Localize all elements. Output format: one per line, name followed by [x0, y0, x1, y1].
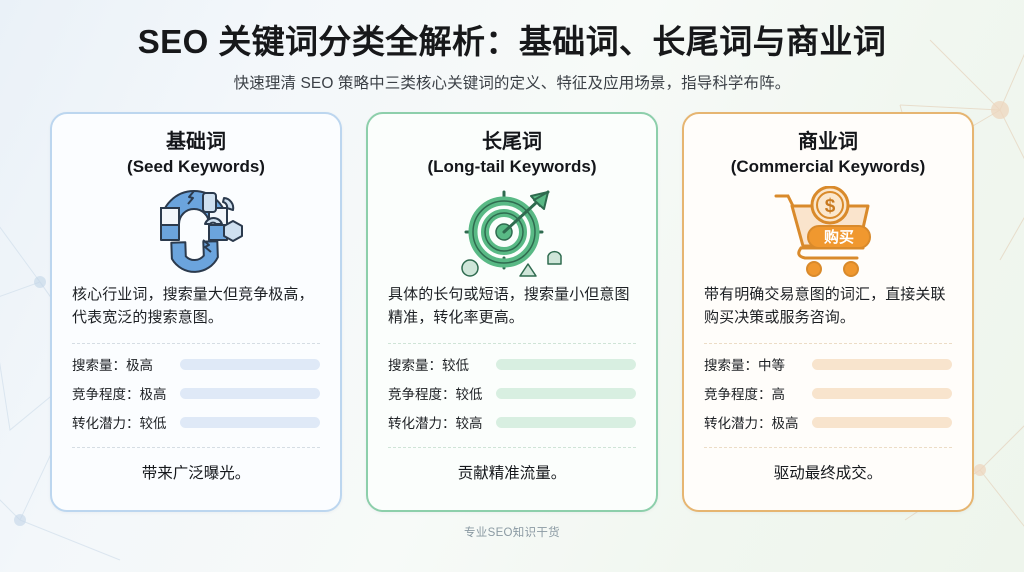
metric-label: 搜索量：较低	[388, 354, 496, 374]
card-footer: 驱动最终成交。	[704, 448, 952, 483]
metric-row: 转化潜力：较高	[388, 412, 636, 432]
card-title-cn: 长尾词	[388, 130, 636, 155]
shopping-cart-coin-icon: $ 购买	[768, 186, 888, 278]
metric-bar-track	[180, 359, 320, 370]
metric-label: 竞争程度：较低	[388, 383, 496, 403]
metric-row: 竞争程度：极高	[72, 383, 320, 403]
card-title-en: (Commercial Keywords)	[704, 156, 952, 178]
metric-label: 转化潜力：较低	[72, 412, 180, 432]
metric-label: 竞争程度：极高	[72, 383, 180, 403]
metric-row: 竞争程度：较低	[388, 383, 636, 403]
target-arrow-icon	[456, 186, 568, 278]
metric-label: 搜索量：中等	[704, 354, 812, 374]
metric-label: 转化潜力：较高	[388, 412, 496, 432]
page-title: SEO 关键词分类全解析：基础词、长尾词与商业词	[0, 22, 1024, 62]
card-divider	[388, 343, 636, 344]
card-description: 具体的长句或短语，搜索量小但意图精准，转化率更高。	[388, 284, 636, 330]
card-description: 带有明确交易意图的词汇，直接关联购买决策或服务咨询。	[704, 284, 952, 330]
metric-label: 竞争程度：高	[704, 383, 812, 403]
metric-bar-track	[496, 417, 636, 428]
card-title-cn: 商业词	[704, 130, 952, 155]
metric-bar-track	[496, 359, 636, 370]
keyword-category-cards: 基础词 (Seed Keywords)	[0, 112, 1024, 512]
metric-row: 搜索量：中等	[704, 354, 952, 374]
metric-bar-track	[180, 417, 320, 428]
buy-button-label: 购买	[824, 228, 854, 246]
metric-row: 搜索量：极高	[72, 354, 320, 374]
card-title-en: (Seed Keywords)	[72, 156, 320, 178]
card-header: 基础词 (Seed Keywords)	[72, 130, 320, 178]
metric-bar-track	[180, 388, 320, 399]
card-description: 核心行业词，搜索量大但竞争极高，代表宽泛的搜索意图。	[72, 284, 320, 330]
card-title-cn: 基础词	[72, 130, 320, 155]
card-metrics: 搜索量：极高 竞争程度：极高 转化潜力：较低	[72, 354, 320, 432]
metric-bar-track	[812, 388, 952, 399]
metric-row: 搜索量：较低	[388, 354, 636, 374]
card-header: 商业词 (Commercial Keywords)	[704, 130, 952, 178]
card-metrics: 搜索量：中等 竞争程度：高 转化潜力：极高	[704, 354, 952, 432]
metric-bar-track	[812, 417, 952, 428]
card-divider	[72, 343, 320, 344]
infographic-page: SEO 关键词分类全解析：基础词、长尾词与商业词 快速理清 SEO 策略中三类核…	[0, 0, 1024, 572]
card-seed-keywords[interactable]: 基础词 (Seed Keywords)	[50, 112, 342, 512]
metric-row: 竞争程度：高	[704, 383, 952, 403]
metric-bar-track	[812, 359, 952, 370]
card-footer: 带来广泛曝光。	[72, 448, 320, 483]
svg-text:$: $	[825, 196, 836, 217]
page-subtitle: 快速理清 SEO 策略中三类核心关键词的定义、特征及应用场景，指导科学布阵。	[0, 71, 1024, 93]
card-title-en: (Long-tail Keywords)	[388, 156, 636, 178]
metric-row: 转化潜力：极高	[704, 412, 952, 432]
metric-bar-track	[496, 388, 636, 399]
card-header: 长尾词 (Long-tail Keywords)	[388, 130, 636, 178]
magnet-icon	[141, 188, 251, 276]
watermark: 专业SEO知识干货	[0, 524, 1024, 540]
page-header: SEO 关键词分类全解析：基础词、长尾词与商业词 快速理清 SEO 策略中三类核…	[0, 0, 1024, 93]
card-metrics: 搜索量：较低 竞争程度：较低 转化潜力：较高	[388, 354, 636, 432]
card-footer: 贡献精准流量。	[388, 448, 636, 483]
metric-label: 搜索量：极高	[72, 354, 180, 374]
card-icon-wrap: $ 购买	[704, 184, 952, 280]
card-commercial-keywords[interactable]: 商业词 (Commercial Keywords) $ 购买	[682, 112, 974, 512]
metric-label: 转化潜力：极高	[704, 412, 812, 432]
card-divider	[704, 343, 952, 344]
card-icon-wrap	[72, 184, 320, 280]
metric-row: 转化潜力：较低	[72, 412, 320, 432]
card-icon-wrap	[388, 184, 636, 280]
card-long-tail-keywords[interactable]: 长尾词 (Long-tail Keywords)	[366, 112, 658, 512]
